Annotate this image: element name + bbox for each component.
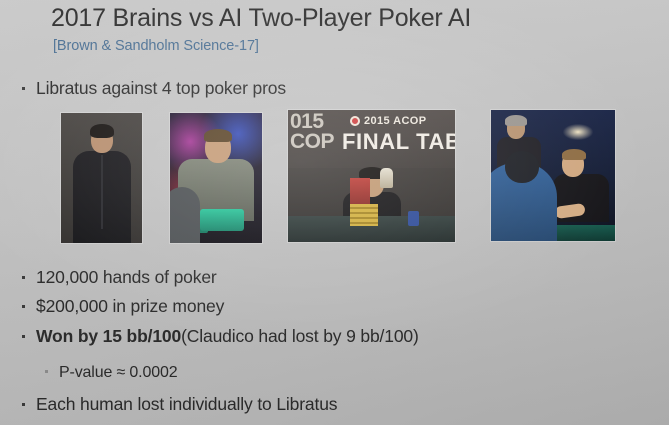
bullet-hands-label: 120,000 hands of poker: [36, 267, 217, 288]
trophy-icon: [380, 168, 393, 188]
bullet-won-highlight: Won by 15 bb/100: [36, 326, 181, 347]
dealer-hair: [505, 115, 527, 126]
chip-rack: [200, 209, 244, 231]
bullet-won-detail: (Claudico had lost by 9 bb/100): [181, 326, 419, 347]
handshake-photo: [491, 110, 615, 241]
bullet-marker-icon: [22, 87, 25, 90]
portrait-jacket-seam: [101, 155, 103, 229]
bullet-prize: $200,000 in prize money: [22, 296, 224, 317]
stage-light: [563, 124, 593, 140]
near-player-head: [505, 151, 539, 183]
acop-logo-icon: [350, 116, 360, 126]
bullet-hands: 120,000 hands of poker: [22, 267, 217, 288]
poker-pro-portrait-1: [61, 113, 142, 243]
slide-canvas: 2017 Brains vs AI Two-Player Poker AI [B…: [0, 0, 669, 425]
bullet-marker-icon: [22, 403, 25, 406]
banner-event-label: 2015 ACOP: [364, 115, 427, 127]
bullet-marker-icon: [22, 305, 25, 308]
player-hair: [204, 129, 232, 142]
bullet-prize-label: $200,000 in prize money: [36, 296, 224, 317]
opponent-hair: [562, 149, 586, 160]
final-table-caption: FINAL TABLE: [342, 129, 455, 155]
bullet-marker-icon: [22, 335, 25, 338]
chip-stack: [350, 204, 378, 226]
banner-ghost-text: 015COP: [290, 112, 334, 152]
foreground-silhouette: [170, 187, 200, 243]
poker-pro-portrait-2: [170, 113, 262, 243]
drink-cup: [408, 211, 419, 226]
bullet-libratus: Libratus against 4 top poker pros: [22, 78, 286, 99]
bullet-marker-icon: [22, 276, 25, 279]
bullet-each-human: Each human lost individually to Libratus: [22, 394, 337, 415]
bullet-pvalue: P-value ≈ 0.0002: [45, 364, 177, 382]
bullet-libratus-label: Libratus against 4 top poker pros: [36, 78, 286, 99]
slide-citation: [Brown & Sandholm Science-17]: [53, 38, 259, 54]
prize-box: [350, 178, 370, 204]
bullet-pvalue-label: P-value ≈ 0.0002: [59, 364, 177, 382]
sub-bullet-marker-icon: [45, 370, 48, 373]
bullet-each-human-label: Each human lost individually to Libratus: [36, 394, 337, 415]
banner-event-line: 2015 ACOP: [350, 115, 427, 127]
bullet-won: Won by 15 bb/100 (Claudico had lost by 9…: [22, 326, 419, 347]
portrait-hair: [90, 124, 114, 138]
slide-title: 2017 Brains vs AI Two-Player Poker AI: [51, 4, 471, 33]
acop-final-table-photo: 015COP 2015 ACOP FINAL TABLE: [288, 110, 455, 242]
